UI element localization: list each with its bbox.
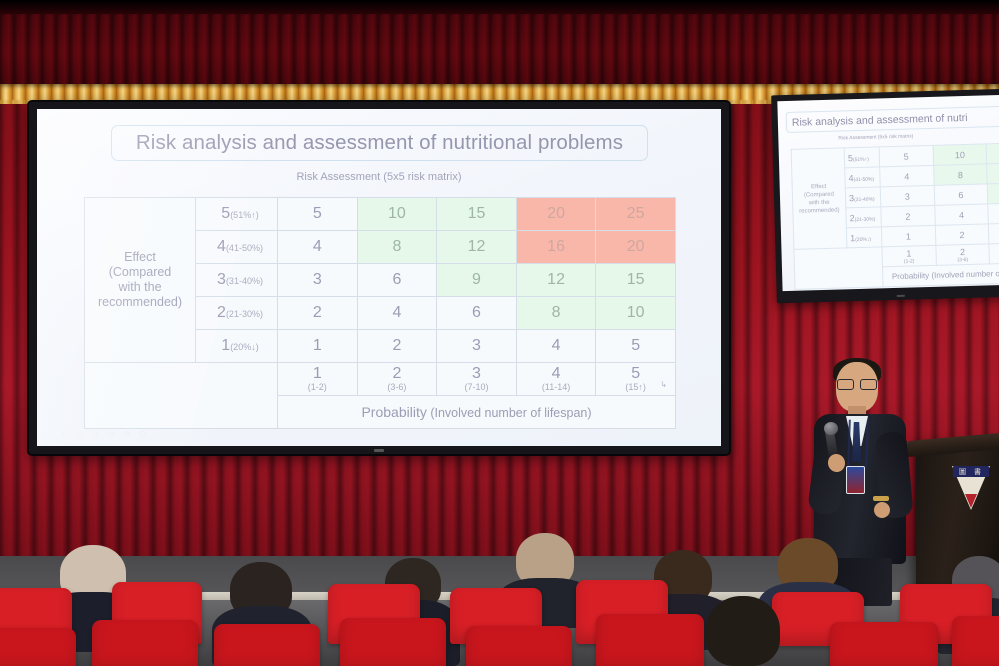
sec-cell-r2-c2: 4 bbox=[934, 204, 988, 225]
probability-label: Probability bbox=[361, 404, 426, 420]
seat[interactable] bbox=[0, 628, 76, 666]
sec-cell-r4-c2: 8 bbox=[933, 164, 987, 185]
cell-r3-c1: 3 bbox=[278, 264, 358, 297]
probability-axis-footer: Probability (Involved number of lifespan… bbox=[278, 396, 676, 429]
screen-bezel-nub bbox=[374, 449, 384, 452]
main-screen-surface: Risk analysis and assessment of nutritio… bbox=[37, 109, 721, 446]
row-label-1: 1(20%↓) bbox=[196, 330, 278, 363]
sec-cell-r2-c3: 6 bbox=[988, 202, 999, 223]
probability-sublabel: (Involved number of lifespan) bbox=[427, 406, 592, 420]
row-label-5-value: 5 bbox=[221, 205, 230, 222]
risk-matrix-table: Effect (Compared with the recommended) 5… bbox=[84, 197, 676, 429]
sec-cell-r4-c1: 4 bbox=[880, 165, 934, 186]
secondary-effect-header: Effect (Compared with the recommended) bbox=[791, 148, 847, 249]
cell-r3-c2: 6 bbox=[357, 264, 437, 297]
col-header-1-range: (1-2) bbox=[279, 382, 356, 393]
seat[interactable] bbox=[466, 626, 572, 666]
cell-r2-c4: 8 bbox=[516, 297, 596, 330]
auditorium-scene: Risk analysis and assessment of nutritio… bbox=[0, 0, 999, 666]
sec-row-label-4: 4(41-50%) bbox=[845, 167, 881, 188]
microphone-icon bbox=[824, 422, 838, 435]
col-header-2: 2 (3-6) bbox=[357, 363, 437, 396]
secondary-screen-surface: Risk analysis and assessment of nutri Ri… bbox=[777, 95, 999, 292]
row-label-3: 3(31-40%) bbox=[196, 264, 278, 297]
sec-col-header-1-range: (1-2) bbox=[884, 257, 935, 264]
seat[interactable] bbox=[596, 614, 704, 666]
secondary-screen-nub bbox=[897, 295, 905, 297]
effect-line-3: with the bbox=[118, 280, 161, 294]
sec-col-header-3-value: 3 bbox=[991, 244, 999, 255]
sec-cell-r1-c1: 1 bbox=[881, 225, 935, 246]
col-header-4-range: (11-14) bbox=[518, 382, 595, 393]
sec-cell-r3-c2: 6 bbox=[934, 184, 988, 205]
matrix-corner-blank bbox=[85, 363, 278, 429]
cell-r5-c3: 15 bbox=[437, 198, 517, 231]
col-header-1-value: 1 bbox=[279, 365, 356, 382]
cell-r1-c4: 4 bbox=[516, 330, 596, 363]
page-title: Risk analysis and assessment of nutritio… bbox=[136, 131, 623, 155]
sec-cell-r3-c3: 9 bbox=[988, 182, 999, 203]
col-header-4-value: 4 bbox=[518, 365, 595, 382]
cell-r5-c1: 5 bbox=[278, 198, 358, 231]
seat[interactable] bbox=[340, 618, 446, 666]
row-label-2-value: 2 bbox=[217, 304, 226, 321]
cell-r1-c1: 1 bbox=[278, 330, 358, 363]
cell-r2-c2: 4 bbox=[357, 297, 437, 330]
presenter-lanyard bbox=[847, 420, 869, 469]
table-row: 1 (1-2) 2 (3-6) 3 (7-10) 4 bbox=[85, 363, 676, 396]
cell-r3-c3: 9 bbox=[437, 264, 517, 297]
row-label-2: 2(21-30%) bbox=[196, 297, 278, 330]
seat[interactable] bbox=[92, 620, 198, 666]
row-label-5-range: (51%↑) bbox=[230, 210, 259, 220]
row-label-4-value: 4 bbox=[217, 238, 226, 255]
main-projection-screen: Risk analysis and assessment of nutritio… bbox=[29, 102, 729, 454]
slide-subtitle: Risk Assessment (5x5 risk matrix) bbox=[37, 171, 721, 183]
sec-row-label-3-range: (31-40%) bbox=[854, 196, 875, 203]
sec-effect-line-1: Effect bbox=[811, 183, 826, 189]
col-header-5: 5 (15↑) ↳ bbox=[596, 363, 676, 396]
institution-emblem-icon: 圖 書 bbox=[952, 466, 990, 510]
cell-r5-c5: 25 bbox=[596, 198, 676, 231]
audience-head bbox=[706, 596, 780, 666]
sec-effect-line-4: recommended) bbox=[799, 207, 840, 214]
seat[interactable] bbox=[952, 616, 999, 666]
sec-cell-r2-c1: 2 bbox=[881, 205, 935, 226]
effect-line-4: recommended) bbox=[98, 295, 182, 309]
sec-row-label-2: 2(21-30%) bbox=[846, 207, 882, 228]
slide-title-box: Risk analysis and assessment of nutritio… bbox=[111, 125, 648, 161]
sec-col-header-3: 3 (7-10) bbox=[989, 242, 999, 263]
cell-r5-c2: 10 bbox=[357, 198, 437, 231]
sec-cell-r1-c3: 3 bbox=[989, 222, 999, 243]
seat[interactable] bbox=[214, 624, 320, 666]
row-label-5: 5(51%↑) bbox=[196, 198, 278, 231]
cell-r1-c2: 2 bbox=[357, 330, 437, 363]
cell-r1-c5: 5 bbox=[596, 330, 676, 363]
cell-r2-c5: 10 bbox=[596, 297, 676, 330]
stage-curtain-top bbox=[0, 0, 999, 96]
presentation-slide: Risk analysis and assessment of nutritio… bbox=[37, 109, 721, 446]
cell-r1-c3: 3 bbox=[437, 330, 517, 363]
presenter-right-hand bbox=[874, 502, 890, 518]
row-label-4-range: (41-50%) bbox=[226, 243, 263, 253]
col-header-3-value: 3 bbox=[438, 365, 515, 382]
cell-r2-c1: 2 bbox=[278, 297, 358, 330]
sec-cell-r1-c2: 2 bbox=[935, 224, 989, 245]
seat[interactable] bbox=[830, 622, 938, 666]
effect-line-1: Effect bbox=[124, 250, 156, 264]
sec-row-label-4-range: (41-50%) bbox=[853, 176, 874, 183]
sec-row-label-1: 1(20%↓) bbox=[846, 227, 882, 248]
cell-r4-c5: 20 bbox=[596, 231, 676, 264]
sec-row-label-5: 5(51%↑) bbox=[844, 147, 880, 168]
wristwatch-icon bbox=[873, 496, 889, 501]
sec-col-header-1: 1 (1-2) bbox=[882, 245, 936, 266]
cell-r4-c2: 8 bbox=[357, 231, 437, 264]
sec-cell-r5-c3: 15 bbox=[986, 142, 999, 163]
col-header-4: 4 (11-14) bbox=[516, 363, 596, 396]
row-label-1-value: 1 bbox=[221, 337, 230, 354]
sec-row-label-5-range: (51%↑) bbox=[853, 156, 869, 162]
sec-cell-r5-c2: 10 bbox=[933, 144, 987, 165]
cell-r4-c4: 16 bbox=[516, 231, 596, 264]
sec-cell-r4-c3: 12 bbox=[987, 162, 999, 183]
sec-col-header-2: 2 (3-6) bbox=[936, 244, 990, 265]
row-label-3-value: 3 bbox=[217, 271, 226, 288]
cell-r3-c4: 12 bbox=[516, 264, 596, 297]
emblem-char-1: 圖 bbox=[959, 467, 966, 477]
sec-cell-r3-c1: 3 bbox=[880, 185, 934, 206]
sec-col-header-3-range: (7-10) bbox=[991, 254, 999, 261]
cell-r5-c4: 20 bbox=[516, 198, 596, 231]
cursor-arrow-icon: ↳ bbox=[660, 380, 667, 389]
sec-row-label-1-range: (20%↓) bbox=[855, 236, 871, 242]
col-header-1: 1 (1-2) bbox=[278, 363, 358, 396]
col-header-2-range: (3-6) bbox=[359, 382, 436, 393]
secondary-risk-matrix: Effect (Compared with the recommended) 5… bbox=[791, 142, 999, 290]
effect-axis-header: Effect (Compared with the recommended) bbox=[85, 198, 196, 363]
sec-effect-line-3: with the bbox=[809, 199, 830, 206]
slide-watermark-icons: ○ ○ ○ ○ ○ ○ bbox=[61, 428, 149, 440]
table-row: Effect (Compared with the recommended) 5… bbox=[85, 198, 676, 231]
sec-col-header-2-range: (3-6) bbox=[937, 256, 988, 263]
cell-r4-c3: 12 bbox=[437, 231, 517, 264]
col-header-2-value: 2 bbox=[359, 365, 436, 382]
sec-corner-blank bbox=[794, 247, 883, 289]
presenter-name-badge bbox=[846, 466, 865, 494]
sec-row-label-3: 3(31-40%) bbox=[845, 187, 881, 208]
col-header-3: 3 (7-10) bbox=[437, 363, 517, 396]
emblem-red-tip bbox=[965, 494, 977, 508]
effect-line-2: (Compared bbox=[109, 265, 172, 279]
emblem-top-band: 圖 書 bbox=[953, 466, 989, 477]
cell-r3-c5: 15 bbox=[596, 264, 676, 297]
row-label-4: 4(41-50%) bbox=[196, 231, 278, 264]
cell-r4-c1: 4 bbox=[278, 231, 358, 264]
sec-probability-footer: Probability (Involved number of lifespan… bbox=[882, 262, 999, 286]
row-label-3-range: (31-40%) bbox=[226, 276, 263, 286]
sec-row-label-2-range: (21-30%) bbox=[855, 216, 876, 223]
col-header-3-range: (7-10) bbox=[438, 382, 515, 393]
cell-r2-c3: 6 bbox=[437, 297, 517, 330]
row-label-2-range: (21-30%) bbox=[226, 309, 263, 319]
sec-effect-line-2: (Compared bbox=[804, 191, 834, 198]
row-label-1-range: (20%↓) bbox=[230, 342, 259, 352]
emblem-char-2: 書 bbox=[974, 467, 981, 477]
secondary-projection-screen: Risk analysis and assessment of nutri Ri… bbox=[771, 89, 999, 304]
eyeglasses-icon bbox=[837, 379, 877, 388]
sec-cell-r5-c1: 5 bbox=[879, 145, 933, 166]
secondary-slide-subtitle: Risk Assessment (5x5 risk matrix) bbox=[838, 133, 913, 141]
